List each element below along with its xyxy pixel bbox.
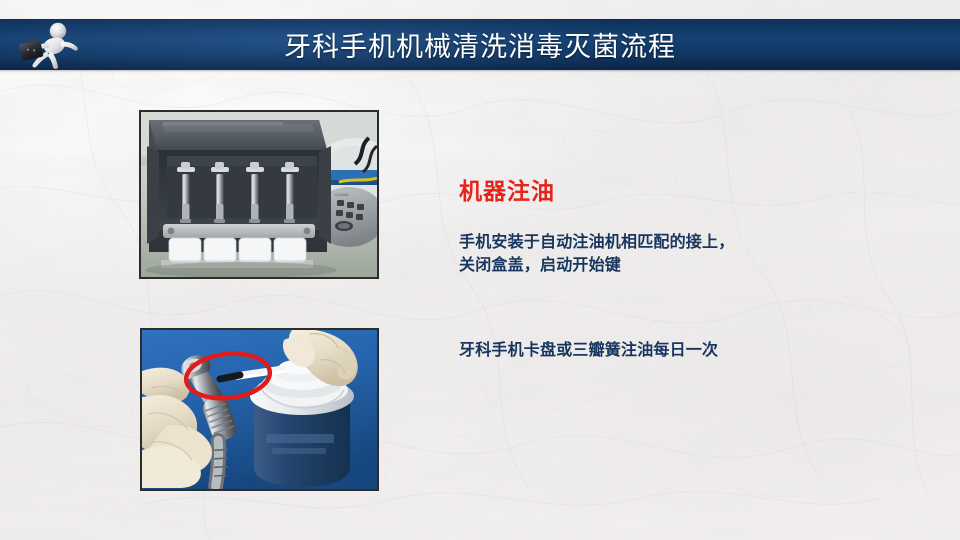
handpiece-oiling-photo — [140, 328, 379, 491]
step1-line2: 关闭盒盖，启动开始键 — [459, 253, 789, 276]
title-banner: 牙科手机机械清洗消毒灭菌流程 — [0, 19, 960, 70]
step2-description: 牙科手机卡盘或三瓣簧注油每日一次 — [459, 336, 718, 360]
step1-line1: 手机安装于自动注油机相匹配的接上， — [459, 230, 789, 253]
step1-description: 手机安装于自动注油机相匹配的接上， 关闭盒盖，启动开始键 — [459, 230, 789, 276]
slide-canvas: 牙科手机机械清洗消毒灭菌流程 — [0, 0, 960, 540]
automatic-oiling-machine-photo: CLEAN — [139, 110, 379, 279]
svg-text:CLEAN: CLEAN — [335, 192, 348, 197]
section-heading-machine-oiling: 机器注油 — [459, 172, 555, 206]
slide-title: 牙科手机机械清洗消毒灭菌流程 — [0, 19, 960, 70]
